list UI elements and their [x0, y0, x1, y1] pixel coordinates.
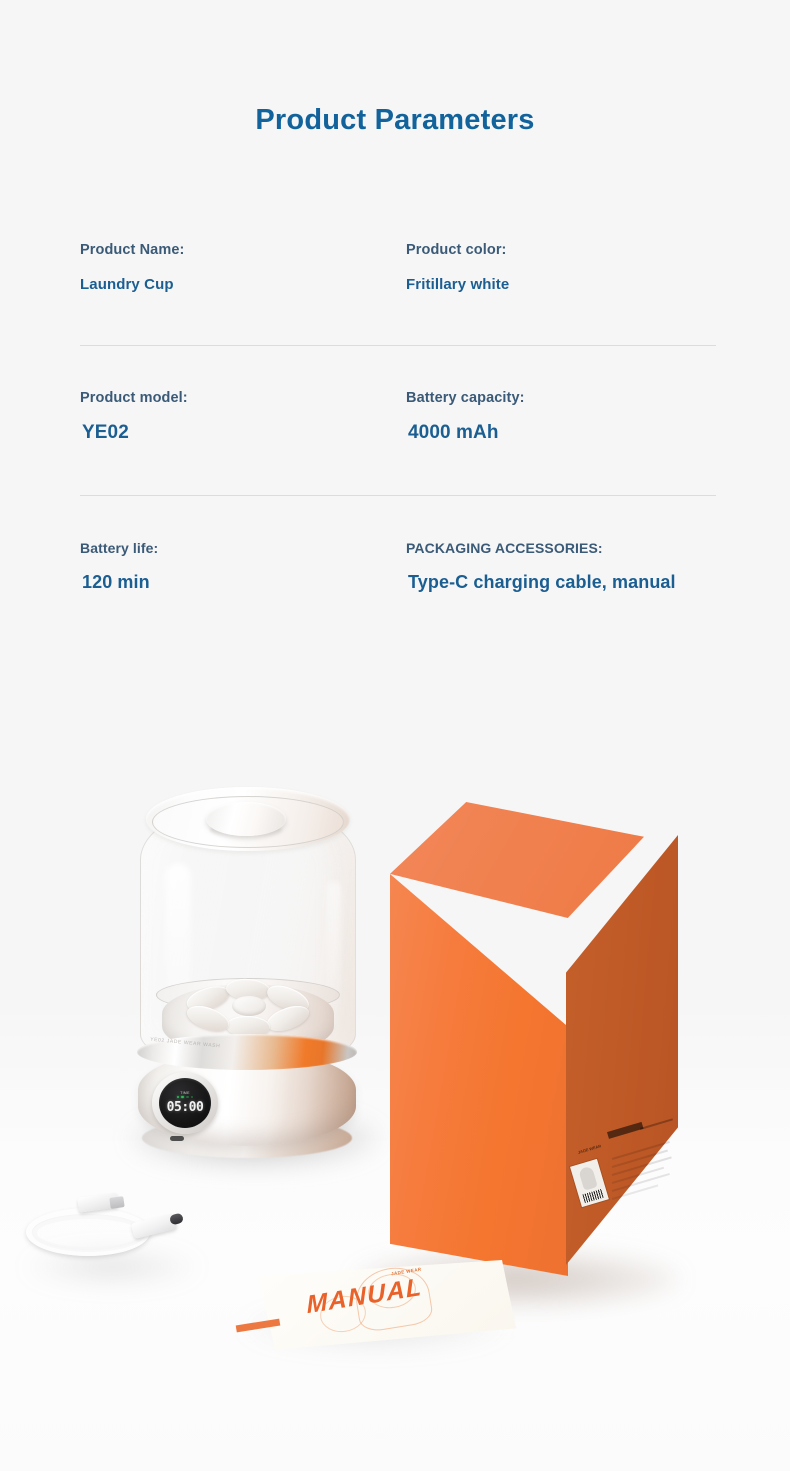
spec-cell-product-color: Product color: Fritillary white	[406, 243, 716, 292]
spec-row: Product model: YE02 Battery capacity: 40…	[80, 391, 716, 443]
box-front-face	[390, 874, 568, 1276]
agitator-hub	[232, 996, 266, 1016]
display-time-label: TIME	[180, 1091, 190, 1095]
product-photo: JADE WEAR	[0, 690, 790, 1471]
spec-value: Type-C charging cable, manual	[406, 573, 716, 591]
packaging-box: JADE WEAR	[352, 802, 678, 1282]
spec-value: YE02	[80, 423, 406, 442]
spec-label: Product color:	[406, 243, 716, 258]
box-print-line	[640, 1118, 673, 1129]
box-brand-text: JADE WEAR	[577, 1143, 601, 1155]
box-back-print: JADE WEAR	[568, 832, 678, 1264]
box-product-thumbnail	[570, 1159, 609, 1207]
cable-loop	[32, 1214, 146, 1252]
spec-cell-product-name: Product Name: Laundry Cup	[80, 243, 406, 292]
agitator-impeller	[178, 980, 318, 1038]
cup-display-bezel[interactable]: TIME 05:00	[152, 1072, 218, 1134]
spacer	[80, 442, 716, 495]
charging-cable	[22, 1190, 197, 1260]
usb-a-tip	[109, 1196, 124, 1209]
lid-knob	[206, 802, 286, 836]
box-print-line	[612, 1167, 664, 1184]
indicator-dot	[181, 1096, 184, 1099]
box-print-line	[612, 1184, 658, 1199]
spec-label: Product model:	[80, 391, 406, 406]
spec-label: Battery capacity:	[406, 391, 716, 406]
spec-value: 4000 mAh	[406, 423, 716, 442]
page-title: Product Parameters	[0, 104, 790, 137]
spec-cell-packaging-accessories: PACKAGING ACCESSORIES: Type-C charging c…	[406, 541, 716, 591]
display-indicator-dots	[177, 1096, 193, 1099]
cup-power-button[interactable]	[170, 1136, 184, 1141]
spacer	[80, 292, 716, 345]
barcode-icon	[582, 1189, 604, 1203]
agitator-petal	[264, 1001, 313, 1036]
spec-value: Laundry Cup	[80, 277, 406, 292]
spacer	[80, 346, 716, 391]
spec-label: Battery life:	[80, 541, 406, 555]
user-manual: JADE WEAR MANUAL	[236, 1260, 516, 1350]
spec-row: Battery life: 120 min PACKAGING ACCESSOR…	[80, 541, 716, 591]
product-parameters-page: Product Parameters Product Name: Laundry…	[0, 0, 790, 1471]
spacer	[80, 496, 716, 541]
spec-value: Fritillary white	[406, 277, 716, 292]
box-thumbnail-cup-icon	[578, 1166, 598, 1191]
spec-cell-battery-capacity: Battery capacity: 4000 mAh	[406, 391, 716, 443]
spec-label: PACKAGING ACCESSORIES:	[406, 541, 716, 555]
indicator-dot	[191, 1096, 194, 1099]
spec-value: 120 min	[80, 573, 406, 591]
cup-display-screen[interactable]: TIME 05:00	[159, 1078, 211, 1128]
spec-cell-product-model: Product model: YE02	[80, 391, 406, 443]
indicator-dot	[177, 1096, 180, 1099]
spec-label: Product Name:	[80, 243, 406, 258]
usb-c-tip	[169, 1213, 184, 1226]
laundry-cup-product: YE02 JADE WEAR WASH TIME 05:00	[132, 782, 362, 1160]
display-timer-value: 05:00	[167, 1100, 204, 1115]
spec-cell-battery-life: Battery life: 120 min	[80, 541, 406, 591]
spec-row: Product Name: Laundry Cup Product color:…	[80, 243, 716, 292]
box-print-block	[607, 1122, 644, 1139]
indicator-dot	[186, 1096, 189, 1099]
spec-table: Product Name: Laundry Cup Product color:…	[80, 243, 716, 591]
